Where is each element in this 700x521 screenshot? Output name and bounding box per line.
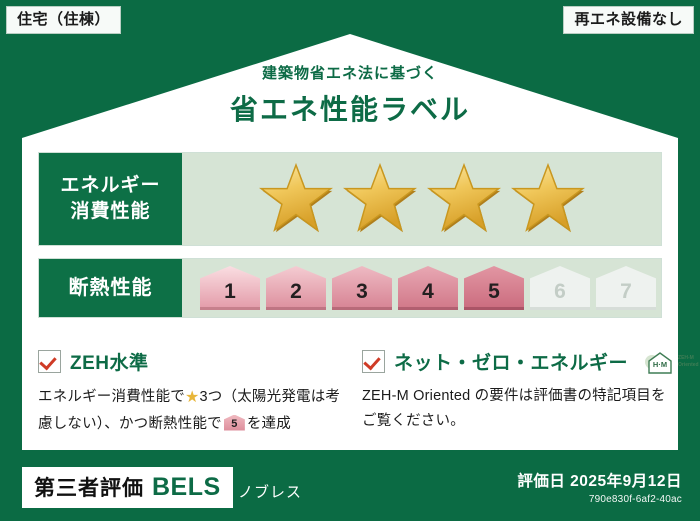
- notes-section: ZEH水準 エネルギー消費性能で★3つ（太陽光発電は考慮しない）、かつ断熱性能で…: [38, 348, 666, 436]
- grade-scale: 1234567: [200, 266, 656, 310]
- star-icon: [425, 162, 503, 236]
- grade-badge-6: 6: [530, 266, 590, 310]
- star-icon: [341, 162, 419, 236]
- row-insulation-label-line1: 断熱性能: [69, 275, 153, 302]
- grade-badge-value: 5: [488, 281, 500, 310]
- note-nze-title: ネット・ゼロ・エネルギー: [394, 348, 628, 375]
- grade-badge-value: 1: [224, 281, 236, 310]
- row-energy-label-line2: 消費性能: [70, 199, 150, 225]
- note-zeh-title: ZEH水準: [70, 348, 149, 375]
- evaluation-date: 評価日 2025年9月12日: [517, 469, 682, 491]
- note-zeh-header: ZEH水準: [38, 348, 342, 375]
- row-energy-consumption: エネルギー 消費性能: [38, 152, 662, 246]
- zeh-m-logo-icon: H·M ZEH-M Oriented: [641, 349, 699, 375]
- star-rating: [257, 162, 587, 236]
- grade-badge-value: 2: [290, 281, 302, 310]
- energy-performance-label: 住宅（住棟） 再エネ設備なし 建築物省エネ法に基づく 省エネ性能ラベル エネルギ…: [0, 0, 700, 521]
- row-energy-label-line1: エネルギー: [60, 173, 160, 199]
- zeh-m-logo-caption: ZEH-M Oriented: [678, 355, 699, 368]
- row-insulation-label: 断熱性能: [39, 259, 182, 317]
- grade-badge-value: 7: [620, 281, 632, 310]
- bels-label-jp: 第三者評価: [34, 472, 144, 502]
- grade-badge-icon-value: 5: [224, 415, 245, 431]
- grade-badge-icon: 5: [224, 415, 245, 431]
- note-zeh-standard: ZEH水準 エネルギー消費性能で★3つ（太陽光発電は考慮しない）、かつ断熱性能で…: [38, 348, 342, 436]
- star-icon: ★: [185, 389, 200, 406]
- performance-rows: エネルギー 消費性能 断熱性能 1234567: [38, 152, 662, 330]
- checkmark-icon: [38, 350, 61, 373]
- footer-bar: 第三者評価 BELS ノブレス 評価日 2025年9月12日 790e830f-…: [0, 459, 700, 521]
- note-zeh-body-part1: エネルギー消費性能で: [38, 389, 185, 405]
- zeh-m-caption-line1: ZEH-M: [678, 355, 694, 361]
- badge-renewable-equipment: 再エネ設備なし: [563, 6, 694, 34]
- grade-badge-1: 1: [200, 266, 260, 310]
- note-zeh-star-count: 3つ: [200, 389, 223, 405]
- star-icon: [257, 162, 335, 236]
- page-title: 省エネ性能ラベル: [0, 88, 700, 128]
- title-block: 建築物省エネ法に基づく 省エネ性能ラベル: [0, 62, 700, 128]
- row-insulation-value: 1234567: [182, 259, 661, 317]
- grade-badge-value: 3: [356, 281, 368, 310]
- badge-building-type: 住宅（住棟）: [6, 6, 121, 34]
- note-net-zero-energy: ネット・ゼロ・エネルギー H·M ZEH-M Oriented ZEH-M Or…: [362, 348, 666, 436]
- grade-badge-7: 7: [596, 266, 656, 310]
- note-nze-body: ZEH-M Oriented の要件は評価書の特記項目をご覧ください。: [362, 384, 666, 434]
- grade-badge-value: 6: [554, 281, 566, 310]
- svg-text:H·M: H·M: [653, 360, 667, 369]
- evaluation-id: 790e830f-6af2-40ac: [517, 494, 682, 505]
- note-zeh-body: エネルギー消費性能で★3つ（太陽光発電は考慮しない）、かつ断熱性能で5を達成: [38, 384, 342, 436]
- title-subtitle: 建築物省エネ法に基づく: [0, 62, 700, 83]
- note-nze-header: ネット・ゼロ・エネルギー H·M ZEH-M Oriented: [362, 348, 666, 375]
- bels-certification-mark: 第三者評価 BELS: [22, 467, 233, 508]
- row-energy-label: エネルギー 消費性能: [39, 153, 182, 245]
- note-zeh-body-part3: を達成: [247, 416, 291, 432]
- grade-badge-value: 4: [422, 281, 434, 310]
- grade-badge-5: 5: [464, 266, 524, 310]
- brand-name: ノブレス: [238, 481, 302, 502]
- bels-label-en: BELS: [152, 473, 221, 502]
- grade-badge-4: 4: [398, 266, 458, 310]
- row-energy-value: [182, 153, 661, 245]
- zeh-m-caption-line2: Oriented: [678, 362, 699, 368]
- grade-badge-2: 2: [266, 266, 326, 310]
- footer-meta: 評価日 2025年9月12日 790e830f-6af2-40ac: [517, 469, 682, 505]
- grade-badge-3: 3: [332, 266, 392, 310]
- star-icon: [509, 162, 587, 236]
- checkmark-icon: [362, 350, 385, 373]
- row-insulation-performance: 断熱性能 1234567: [38, 258, 662, 318]
